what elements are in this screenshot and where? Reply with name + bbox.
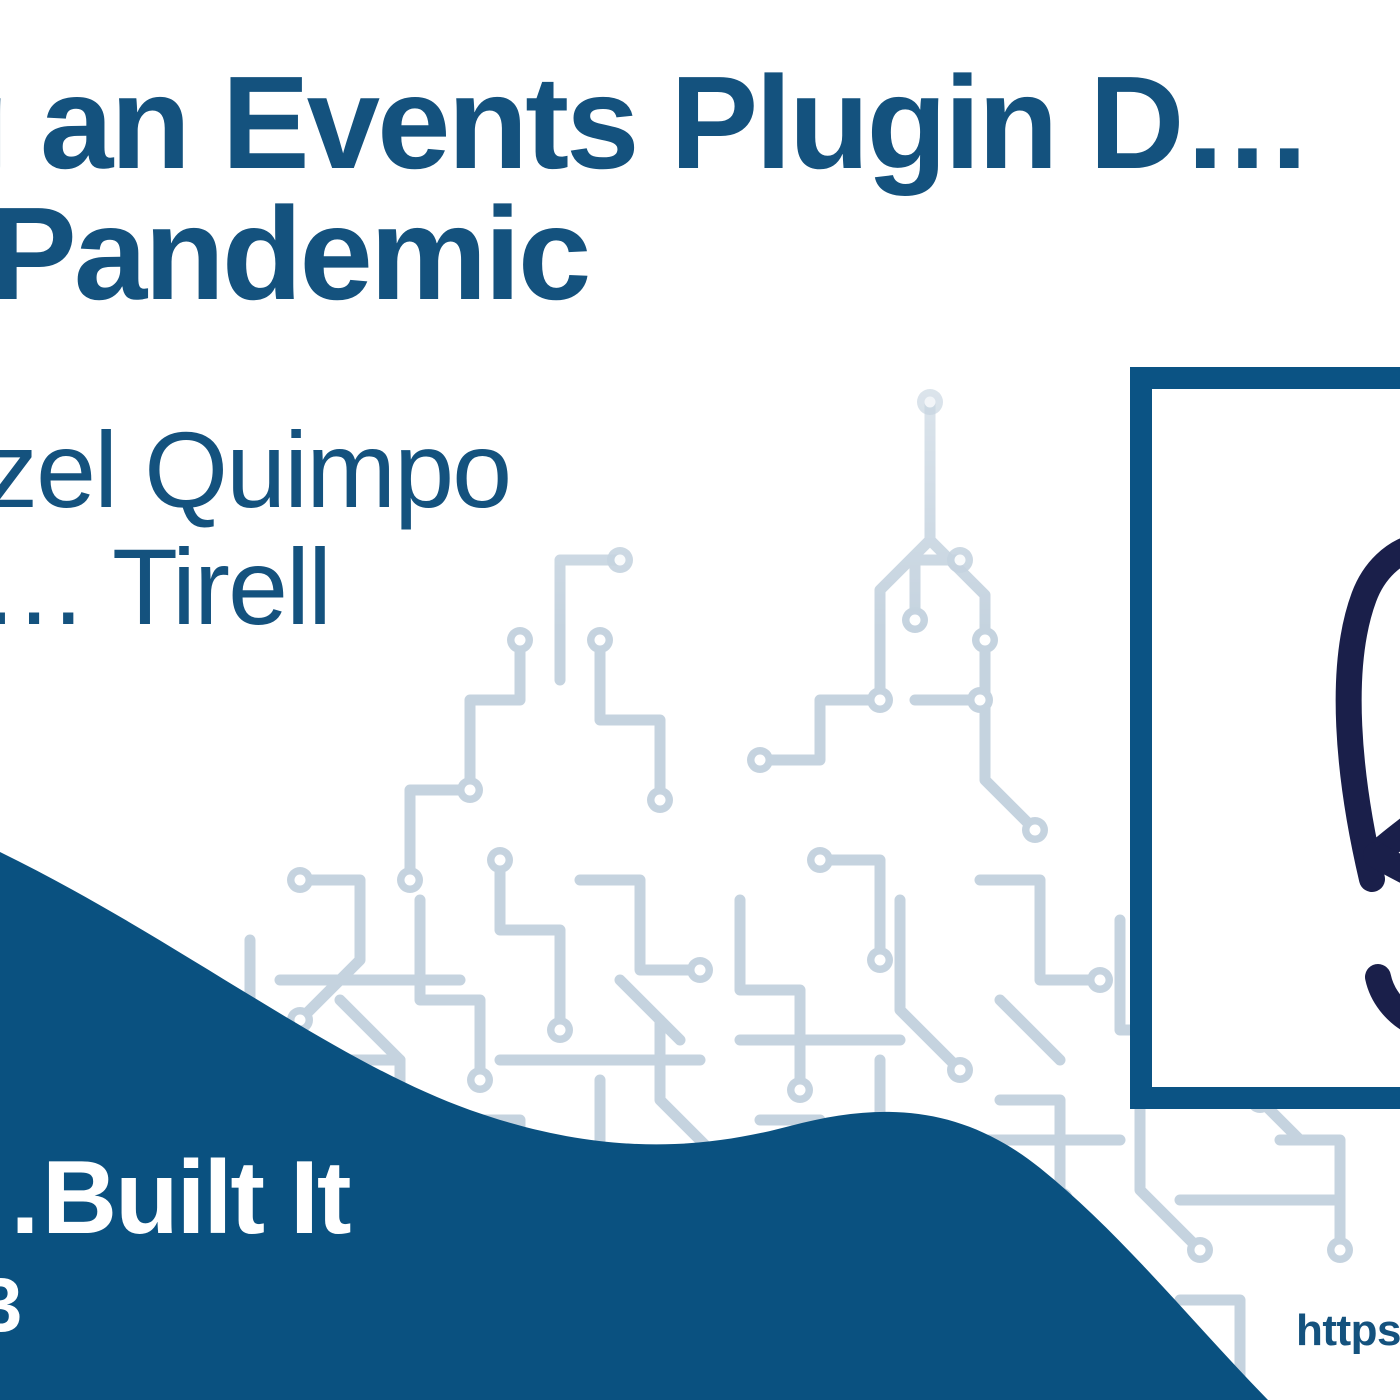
site-url-label: https…: [1296, 1306, 1400, 1356]
episode-number-badge: …3: [0, 1268, 840, 1344]
episode-title: …ng an Events Plugin D… …al Pandemic: [0, 58, 1400, 319]
show-title: …Built It: [0, 1146, 840, 1250]
script-monogram-icon: [1280, 417, 1400, 1057]
show-branding: …Built It …3: [0, 1146, 840, 1344]
title-line-2: …al Pandemic: [0, 189, 1400, 320]
title-line-1: …ng an Events Plugin D…: [0, 58, 1400, 189]
episode-cover-card: …ng an Events Plugin D… …al Pandemic …ze…: [0, 0, 1400, 1400]
logo-frame: [1130, 367, 1400, 1109]
